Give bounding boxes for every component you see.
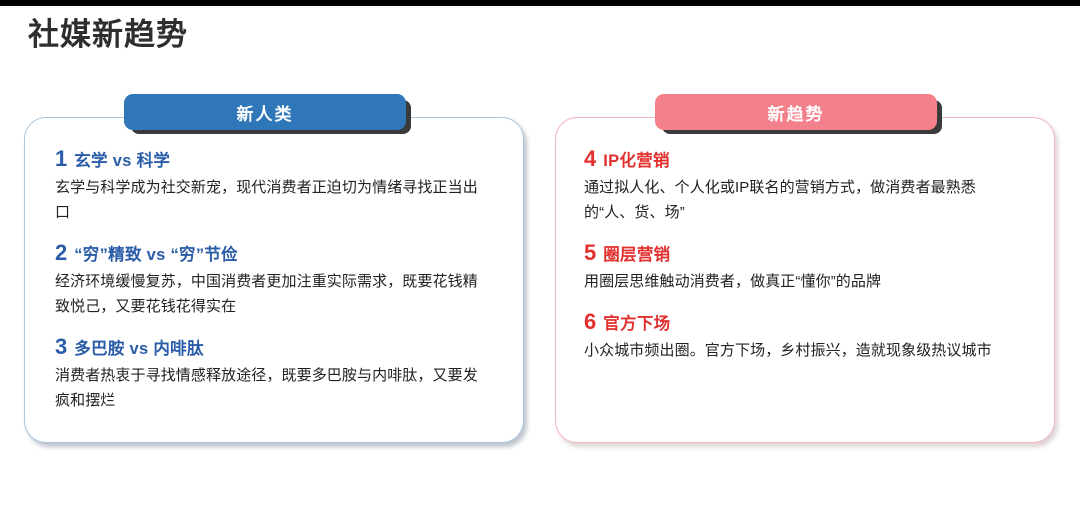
list-item-title: 官方下场: [603, 312, 670, 337]
list-item-title: “穷”精致 vs “穷”节俭: [74, 243, 238, 268]
list-item-number: 6: [584, 311, 596, 333]
list-item-number: 4: [584, 148, 596, 170]
list-item: 6 官方下场 小众城市频出圈。官方下场，乡村振兴，造就现象级热议城市: [584, 311, 1028, 363]
top-black-bar: [0, 0, 1080, 6]
slide-canvas: 社媒新趋势 1 玄学 vs 科学 玄学与科学成为社交新宠，现代消费者正迫切为情绪…: [0, 0, 1080, 505]
panel-card-new-trends: 4 IP化营销 通过拟人化、个人化或IP联名的营销方式，做消费者最熟悉的“人、货…: [555, 117, 1055, 443]
list-item-description: 通过拟人化、个人化或IP联名的营销方式，做消费者最熟悉的“人、货、场”: [584, 175, 1004, 225]
list-item-number: 5: [584, 242, 596, 264]
list-item-heading: 3 多巴胺 vs 内啡肽: [55, 336, 497, 362]
list-item-heading: 6 官方下场: [584, 311, 1028, 337]
list-item-title: 圈层营销: [603, 243, 670, 268]
list-item-heading: 1 玄学 vs 科学: [55, 148, 497, 174]
panel-banner-new-trends: 新趋势: [655, 94, 937, 130]
list-item: 2 “穷”精致 vs “穷”节俭 经济环境缓慢复苏，中国消费者更加注重实际需求，…: [55, 242, 497, 319]
panel-item-list-new-trends: 4 IP化营销 通过拟人化、个人化或IP联名的营销方式，做消费者最熟悉的“人、货…: [556, 148, 1054, 363]
list-item-description: 消费者热衷于寻找情感释放途径，既要多巴胺与内啡肽，又要发疯和摆烂: [55, 363, 485, 413]
list-item-number: 1: [55, 148, 67, 170]
list-item-heading: 5 圈层营销: [584, 242, 1028, 268]
list-item-title: IP化营销: [603, 149, 670, 174]
list-item: 4 IP化营销 通过拟人化、个人化或IP联名的营销方式，做消费者最熟悉的“人、货…: [584, 148, 1028, 225]
list-item: 3 多巴胺 vs 内啡肽 消费者热衷于寻找情感释放途径，既要多巴胺与内啡肽，又要…: [55, 336, 497, 413]
panel-banner-new-humans: 新人类: [124, 94, 406, 130]
list-item-number: 2: [55, 242, 67, 264]
list-item-description: 用圈层思维触动消费者，做真正“懂你”的品牌: [584, 269, 1004, 294]
list-item-heading: 4 IP化营销: [584, 148, 1028, 174]
list-item-heading: 2 “穷”精致 vs “穷”节俭: [55, 242, 497, 268]
list-item-description: 小众城市频出圈。官方下场，乡村振兴，造就现象级热议城市: [584, 338, 1004, 363]
list-item-title: 玄学 vs 科学: [74, 149, 170, 174]
list-item: 1 玄学 vs 科学 玄学与科学成为社交新宠，现代消费者正迫切为情绪寻找正当出口: [55, 148, 497, 225]
list-item-title: 多巴胺 vs 内啡肽: [74, 337, 204, 362]
panel-item-list-new-humans: 1 玄学 vs 科学 玄学与科学成为社交新宠，现代消费者正迫切为情绪寻找正当出口…: [25, 148, 523, 413]
list-item: 5 圈层营销 用圈层思维触动消费者，做真正“懂你”的品牌: [584, 242, 1028, 294]
list-item-number: 3: [55, 336, 67, 358]
panel-card-new-humans: 1 玄学 vs 科学 玄学与科学成为社交新宠，现代消费者正迫切为情绪寻找正当出口…: [24, 117, 524, 443]
list-item-description: 玄学与科学成为社交新宠，现代消费者正迫切为情绪寻找正当出口: [55, 175, 485, 225]
list-item-description: 经济环境缓慢复苏，中国消费者更加注重实际需求，既要花钱精致悦己，又要花钱花得实在: [55, 269, 485, 319]
page-title: 社媒新趋势: [28, 14, 188, 56]
